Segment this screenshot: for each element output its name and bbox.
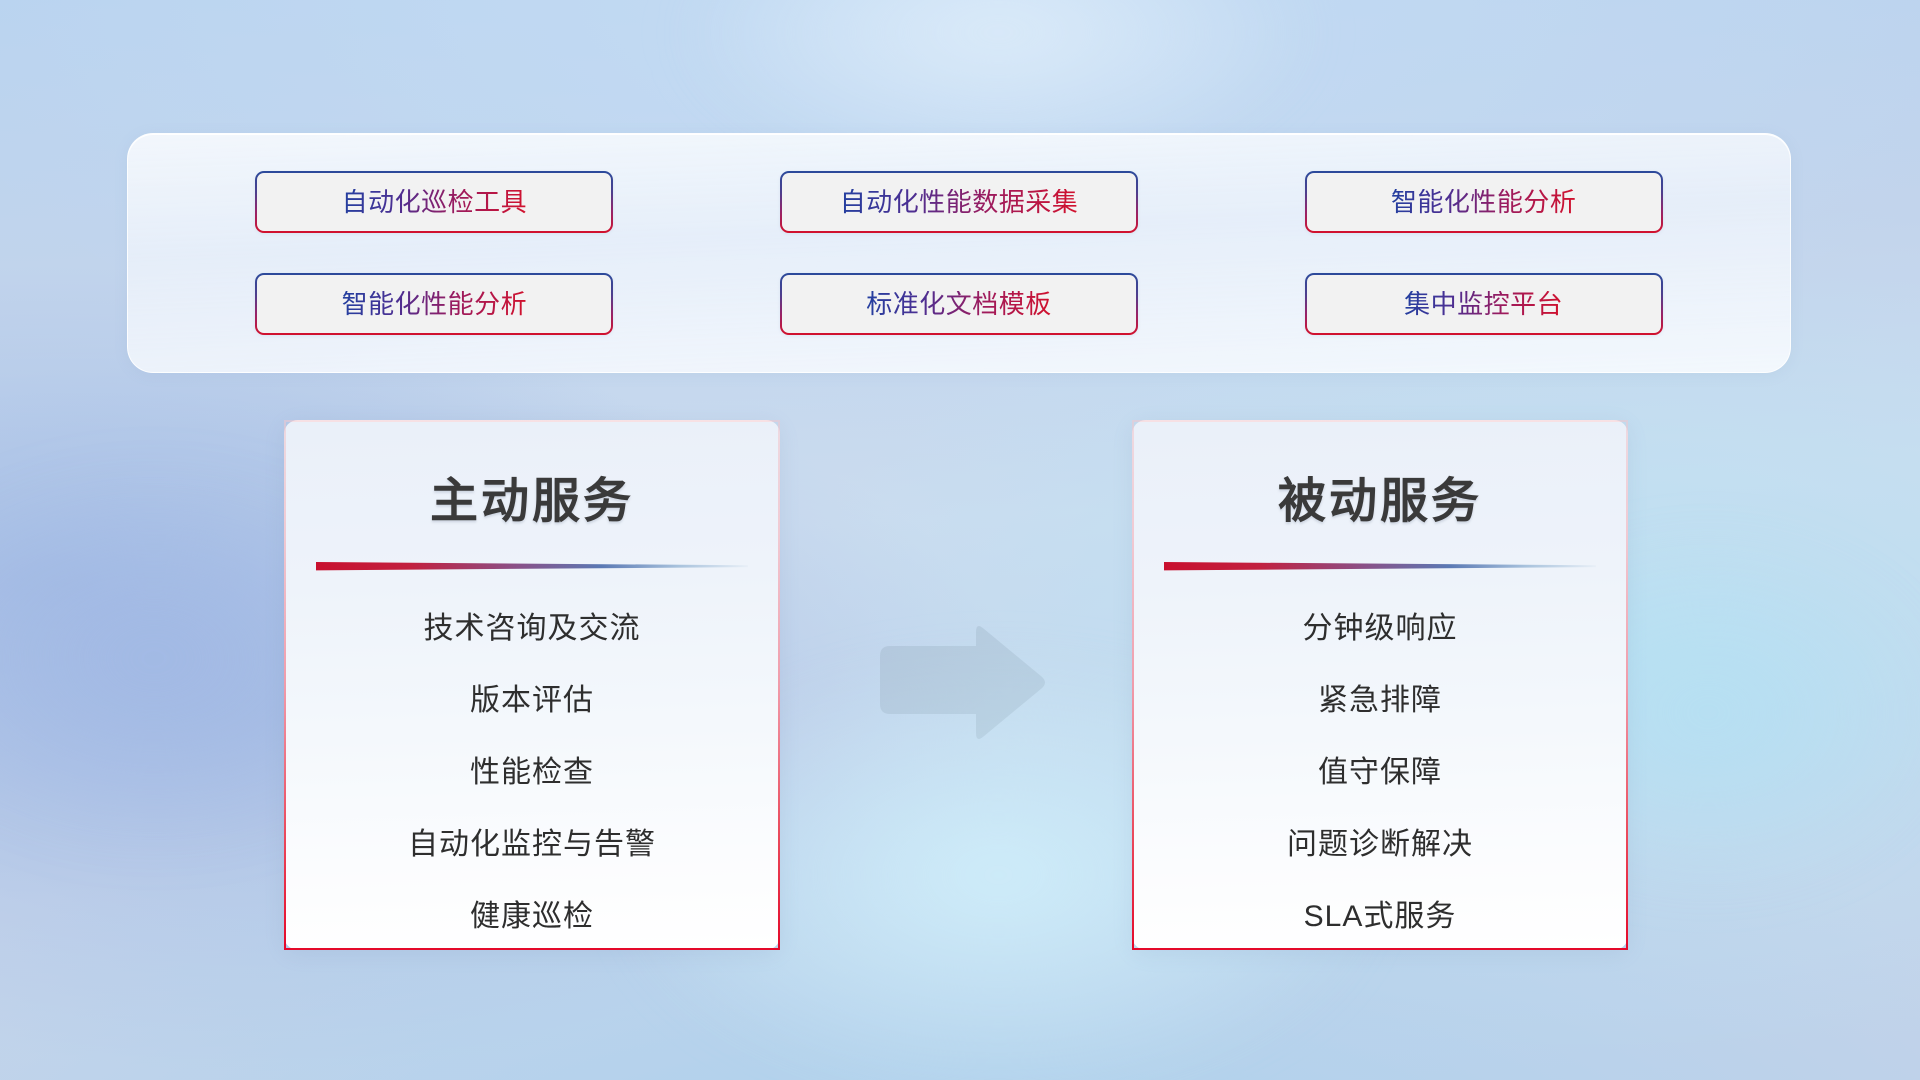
service-list-item: 值守保障: [1318, 737, 1442, 809]
capability-chip[interactable]: 集中监控平台: [1305, 273, 1663, 335]
service-item-list: 分钟级响应 紧急排障 值守保障 问题诊断解决 SLA式服务: [1160, 593, 1600, 953]
service-item-list: 技术咨询及交流 版本评估 性能检查 自动化监控与告警 健康巡检: [312, 593, 752, 953]
service-list-item: SLA式服务: [1304, 881, 1457, 953]
title-divider: [1164, 560, 1596, 571]
capability-chip-label: 自动化性能数据采集: [840, 189, 1079, 215]
capability-chip-label: 自动化巡检工具: [342, 189, 528, 215]
slide-stage: 自动化巡检工具 自动化性能数据采集 智能化性能分析 智能化性能分析 标准化文档模…: [0, 0, 1920, 1080]
service-list-item: 紧急排障: [1318, 665, 1442, 737]
capabilities-panel: 自动化巡检工具 自动化性能数据采集 智能化性能分析 智能化性能分析 标准化文档模…: [127, 133, 1791, 373]
capability-chip[interactable]: 自动化巡检工具: [255, 171, 613, 233]
capability-chip-label: 标准化文档模板: [866, 291, 1052, 317]
service-list-item: 分钟级响应: [1303, 593, 1458, 665]
service-list-item: 健康巡检: [470, 881, 594, 953]
capability-chip[interactable]: 智能化性能分析: [255, 273, 613, 335]
service-list-item: 性能检查: [470, 737, 594, 809]
service-card-title: 被动服务: [1278, 478, 1482, 526]
service-card-reactive[interactable]: 被动服务: [1132, 420, 1628, 950]
service-list-item: 自动化监控与告警: [408, 809, 656, 881]
service-list-item: 问题诊断解决: [1287, 809, 1473, 881]
capability-chip[interactable]: 智能化性能分析: [1305, 171, 1663, 233]
capability-chip[interactable]: 自动化性能数据采集: [780, 171, 1138, 233]
service-list-item: 版本评估: [470, 665, 594, 737]
title-divider: [316, 560, 748, 571]
capabilities-grid: 自动化巡检工具 自动化性能数据采集 智能化性能分析 智能化性能分析 标准化文档模…: [128, 134, 1790, 372]
capability-chip-label: 智能化性能分析: [1391, 189, 1577, 215]
service-card-proactive[interactable]: 主动服务: [284, 420, 780, 950]
arrow-right-icon: [872, 620, 1048, 740]
service-list-item: 技术咨询及交流: [424, 593, 641, 665]
capability-chip-label: 智能化性能分析: [342, 291, 528, 317]
capability-chip-label: 集中监控平台: [1404, 291, 1563, 317]
capability-chip[interactable]: 标准化文档模板: [780, 273, 1138, 335]
service-card-title: 主动服务: [430, 478, 634, 526]
